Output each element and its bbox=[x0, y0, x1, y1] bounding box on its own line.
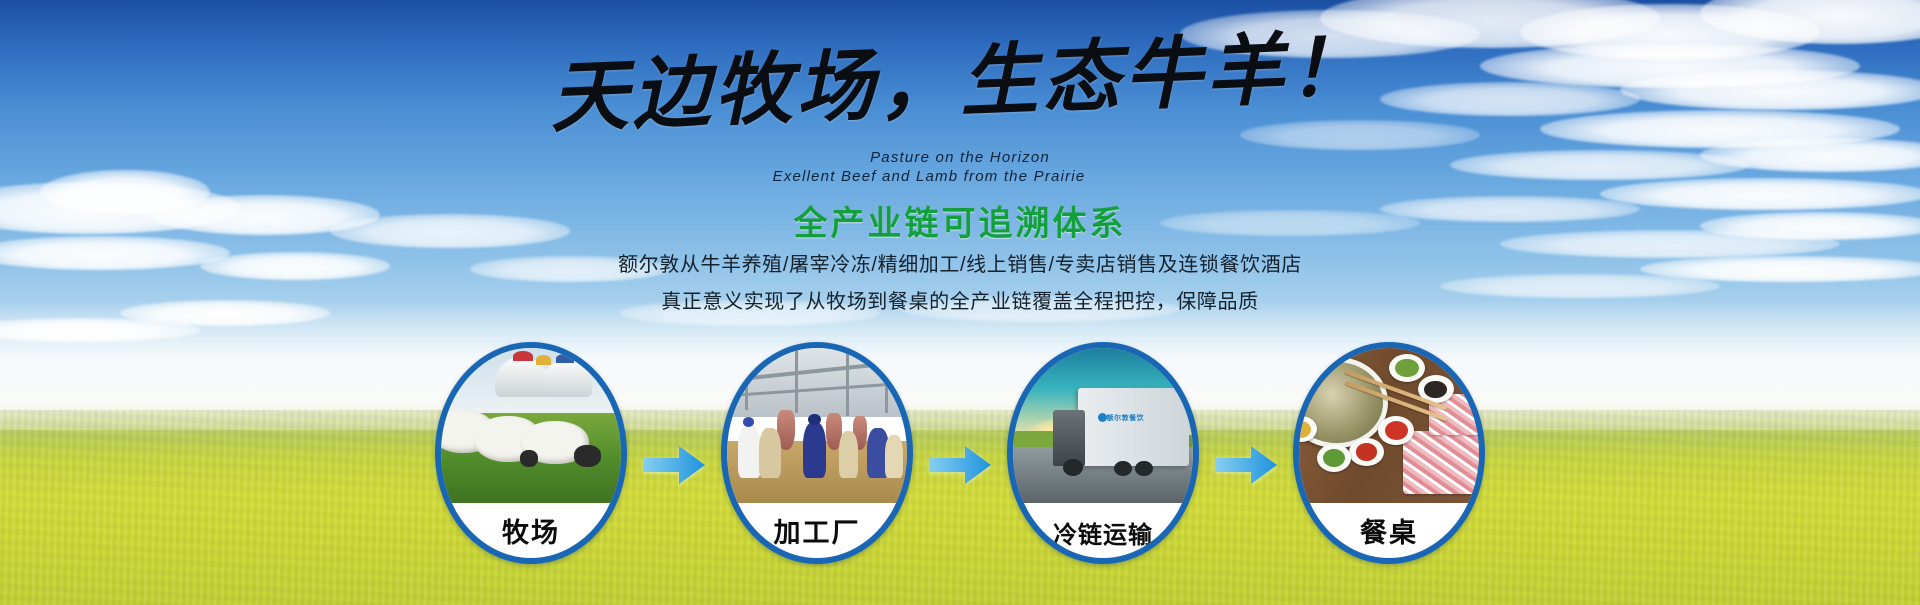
flow-step-label: 冷链运输 bbox=[1013, 515, 1193, 550]
arrow-right-icon bbox=[927, 440, 993, 490]
flow-step-label: 牧场 bbox=[441, 511, 621, 550]
flow-step-pasture[interactable]: 牧场 bbox=[435, 342, 627, 564]
green-headline: 全产业链可追溯体系 bbox=[0, 196, 1920, 245]
processing-plant-photo bbox=[727, 348, 907, 503]
flow-step-dining-table[interactable]: 餐桌 bbox=[1293, 342, 1485, 564]
dining-table-hotpot-photo bbox=[1299, 348, 1479, 503]
promotional-banner: 天边牧场，生态牛羊！ Pasture on the Horizon Exelle… bbox=[0, 0, 1920, 605]
description-line-2: 真正意义实现了从牧场到餐桌的全产业链覆盖全程把控，保障品质 bbox=[0, 285, 1920, 314]
truck-logo-text: 额尔敦餐饮 bbox=[1107, 413, 1145, 423]
calligraphy-title: 天边牧场，生态牛羊！ bbox=[0, 7, 1920, 159]
flow-step-cold-chain[interactable]: 额尔敦餐饮 冷链运输 bbox=[1007, 342, 1199, 564]
flow-step-label: 餐桌 bbox=[1299, 511, 1479, 550]
cold-chain-truck-photo: 额尔敦餐饮 bbox=[1013, 348, 1193, 503]
description-line-1: 额尔敦从牛羊养殖/屠宰冷冻/精细加工/线上销售/专卖店销售及连锁餐饮酒店 bbox=[0, 248, 1920, 277]
arrow-right-icon bbox=[641, 440, 707, 490]
arrow-right-icon bbox=[1213, 440, 1279, 490]
english-subtitle-block: Pasture on the Horizon Exellent Beef and… bbox=[0, 148, 1920, 186]
flow-step-label: 加工厂 bbox=[727, 511, 907, 550]
supply-chain-flow: 牧场 bbox=[0, 340, 1920, 565]
pasture-sheep-yurt-photo bbox=[441, 348, 621, 503]
flow-step-processing-plant[interactable]: 加工厂 bbox=[721, 342, 913, 564]
english-subtitle-line-1: Pasture on the Horizon bbox=[0, 148, 1920, 167]
english-subtitle-line-2: Exellent Beef and Lamb from the Prairie bbox=[0, 167, 1858, 186]
